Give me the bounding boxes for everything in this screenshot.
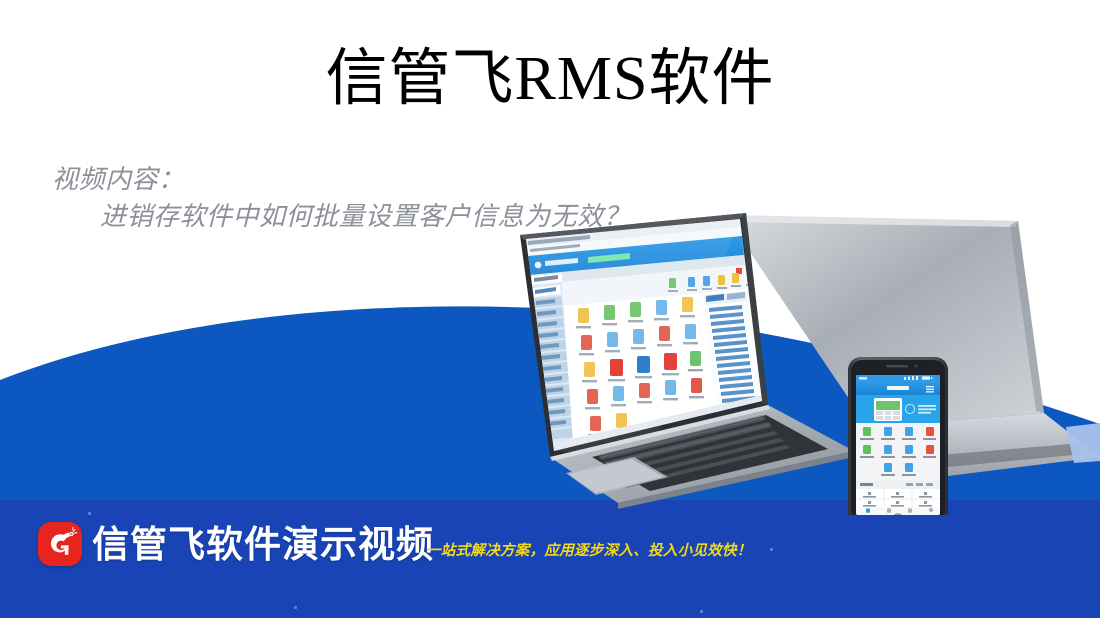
- hamburger-icon: [926, 386, 934, 393]
- decorative-speck: [88, 512, 91, 515]
- video-content-label: 视频内容：: [52, 165, 185, 195]
- banner-tagline: 一站式解决方案，应用逐步深入、投入小见效快！: [426, 541, 752, 561]
- decorative-speck: [294, 606, 297, 609]
- banner-title: 信管飞软件演示视频: [92, 524, 434, 566]
- page-title: 信管飞RMS软件: [0, 44, 1100, 115]
- slide-canvas: 信管飞RMS软件 视频内容： 进销存软件中如何批量设置客户信息为无效？: [0, 0, 1100, 618]
- decorative-speck: [700, 553, 703, 556]
- mobile-phone: [848, 357, 948, 515]
- decorative-speck: [700, 610, 703, 613]
- decorative-speck: [770, 548, 773, 551]
- devices-illustration: [470, 205, 1100, 515]
- xingguanfei-logo-icon: [38, 522, 82, 566]
